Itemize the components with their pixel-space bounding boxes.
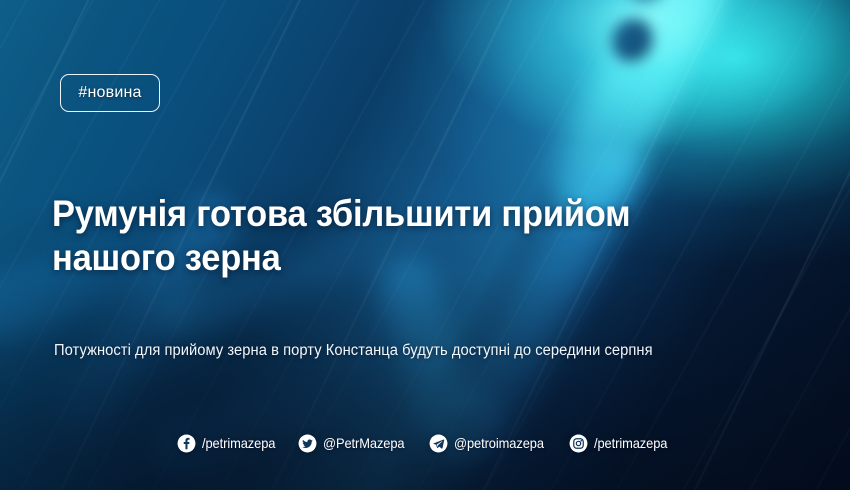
social-handle-telegram: @petroimazepa	[454, 434, 544, 453]
subtitle: Потужності для прийому зерна в порту Кон…	[54, 340, 753, 362]
social-links: /petrimazepa @PetrMazepa @petroimazepa	[0, 434, 850, 453]
twitter-icon	[298, 434, 317, 453]
card-content: #новина Румунія готова збільшити прийом …	[0, 0, 850, 490]
social-handle-twitter: @PetrMazepa	[323, 434, 405, 453]
social-link-telegram[interactable]: @petroimazepa	[429, 434, 552, 453]
social-handle-facebook: /petrimazepa	[202, 434, 275, 453]
social-link-twitter[interactable]: @PetrMazepa	[298, 434, 412, 453]
news-card: #новина Румунія готова збільшити прийом …	[0, 0, 850, 490]
social-link-instagram[interactable]: /petrimazepa	[569, 434, 674, 453]
instagram-icon	[569, 434, 588, 453]
social-handle-instagram: /petrimazepa	[594, 434, 667, 453]
social-link-facebook[interactable]: /petrimazepa	[177, 434, 282, 453]
category-tag[interactable]: #новина	[60, 74, 160, 112]
category-tag-label: #новина	[78, 84, 141, 102]
telegram-icon	[429, 434, 448, 453]
headline: Румунія готова збільшити прийом нашого з…	[52, 192, 748, 280]
facebook-icon	[177, 434, 196, 453]
